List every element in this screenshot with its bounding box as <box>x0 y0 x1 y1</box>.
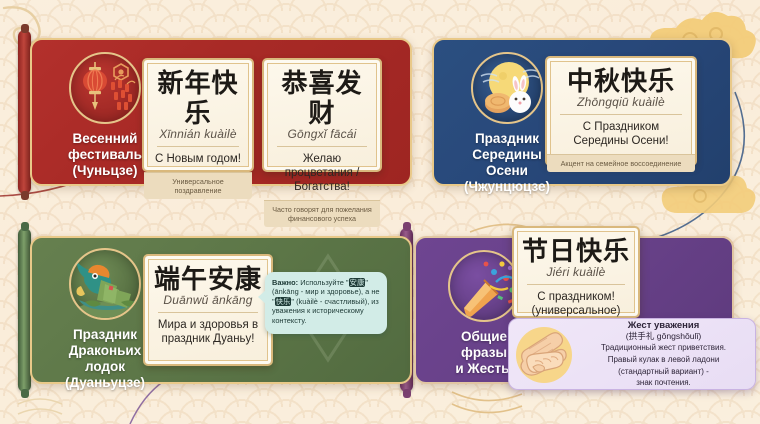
phrase-card-gongxi[interactable]: 恭喜发财 Gōngxǐ fācái Желаю процветания / Бо… <box>262 58 382 172</box>
note-zhongqiu: Акцент на семейное воссоединение <box>547 154 695 172</box>
gesture-pinyin: (拱手礼 gǒngshǒulǐ) <box>579 331 748 341</box>
hanzi-duanwu: 端午安康 <box>152 264 264 294</box>
tip-hanzi-kuaile: 快乐 <box>275 297 292 306</box>
category-label-dragon-line4: (Дуаньуцзе) <box>30 375 180 391</box>
infographic-canvas: Весенний фестиваль (Чуньцзе) 新年快乐 Xīnniá… <box>0 0 760 424</box>
divider <box>158 312 258 313</box>
gesture-desc-line4: знак почтения. <box>579 378 748 388</box>
divider <box>277 146 367 147</box>
pinyin-xinnian: Xīnnián kuàilè <box>151 127 245 141</box>
cupped-hands-bow-icon <box>513 323 579 385</box>
hanzi-jieri: 节日快乐 <box>521 236 631 266</box>
translation-xinnian: С Новым годом! <box>151 152 245 166</box>
phrase-card-duanwu[interactable]: 端午安康 Duānwǔ ānkāng Мира и здоровья в пра… <box>143 254 273 366</box>
note-gongxi: Часто говорят для пожелания финансового … <box>264 200 380 227</box>
pinyin-gongxi: Gōngxǐ fācái <box>271 127 373 141</box>
divider <box>157 146 239 147</box>
hanzi-gongxi: 恭喜发财 <box>271 68 373 128</box>
phrase-card-zhongqiu[interactable]: 中秋快乐 Zhōngqiū kuàilè С Праздником Середи… <box>545 56 697 166</box>
pinyin-jieri: Jiéri kuàilè <box>521 265 631 279</box>
tip-text-a: Используйте " <box>298 278 348 287</box>
divider <box>560 114 682 115</box>
gesture-desc-line3: (стандартный вариант) - <box>579 367 748 377</box>
note-xinnian: Универсальное поздравление <box>144 172 252 199</box>
gesture-desc-line2: Правый кулак в левой ладони <box>579 355 748 365</box>
tip-hanzi-ankang: 安康 <box>349 278 366 287</box>
translation-gongxi: Желаю процветания / Богатства! <box>271 152 373 194</box>
gesture-title: Жест уважения <box>579 320 748 331</box>
phrase-card-jieri[interactable]: 节日快乐 Jiéri kuàilè С праздником! (универс… <box>512 226 640 318</box>
translation-jieri-line2: (универсальное) <box>521 304 631 318</box>
moon-rabbit-mooncake-icon <box>471 52 543 124</box>
hanzi-zhongqiu: 中秋快乐 <box>554 66 688 96</box>
party-popper-icon <box>448 250 520 322</box>
category-label-autumn-line4: (Чжунцюцзе) <box>432 179 582 195</box>
translation-jieri-line1: С праздником! <box>521 290 631 304</box>
divider <box>527 284 625 285</box>
pinyin-zhongqiu: Zhōngqiū kuàilè <box>554 95 688 109</box>
translation-zhongqiu: С Праздником Середины Осени! <box>554 120 688 148</box>
dragon-boat-zongzi-icon <box>69 248 141 320</box>
red-lantern-firecrackers-icon <box>69 52 141 124</box>
important-tip-callout[interactable]: Важно: Используйте "安康" (ānkāng - мир и … <box>265 272 387 334</box>
tip-lead-label: Важно: <box>272 278 298 287</box>
gesture-desc-line1: Традиционный жест приветствия. <box>579 343 748 353</box>
gesture-respect-card[interactable]: Жест уважения (拱手礼 gǒngshǒulǐ) Традицион… <box>508 318 756 390</box>
hanzi-xinnian: 新年快乐 <box>151 68 245 128</box>
phrase-card-xinnian[interactable]: 新年快乐 Xīnnián kuàilè С Новым годом! Униве… <box>142 58 254 172</box>
translation-duanwu: Мира и здоровья в праздник Дуаньу! <box>152 318 264 346</box>
pinyin-duanwu: Duānwǔ ānkāng <box>152 293 264 307</box>
